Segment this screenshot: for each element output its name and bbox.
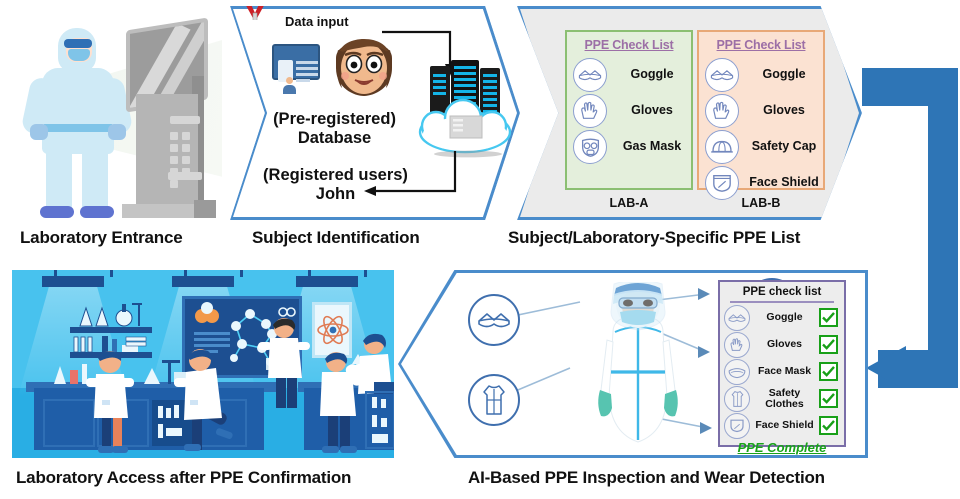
checklist-row: Goggle — [724, 305, 844, 331]
ppe-complete-status: PPE Complete — [720, 440, 844, 455]
caption-laboratory-entrance: Laboratory Entrance — [20, 228, 182, 248]
bench-side-shelf — [364, 390, 394, 450]
lab-a-name: LAB-A — [565, 196, 693, 210]
scientist-1 — [84, 348, 136, 453]
ppe-item-row: Goggle — [705, 58, 823, 92]
ppe-list-card-lab-b: PPE Check List Goggle — [697, 30, 825, 190]
ppe-person-figure — [583, 282, 693, 447]
face-mask-icon — [724, 359, 750, 385]
laboratory-entrance-illustration — [4, 6, 222, 220]
ppe-item-row: Gas Mask — [573, 130, 691, 164]
scientist-3 — [258, 316, 310, 408]
ai-ppe-detection-panel: PPE check list Goggle — [398, 270, 868, 458]
checkbox-checked[interactable] — [819, 335, 838, 354]
checklist-title: PPE check list — [720, 286, 844, 298]
goggle-icon — [573, 58, 607, 92]
checklist-row: Gloves — [724, 332, 844, 358]
safety-clothes-icon — [468, 374, 520, 426]
worker-goggle — [64, 39, 92, 48]
checkbox-checked[interactable] — [819, 416, 838, 435]
safety-cap-icon — [705, 130, 739, 164]
ppe-checklist-result-panel: PPE check list Goggle — [718, 280, 846, 447]
data-input-label: Data input — [285, 14, 349, 29]
goggle-icon — [724, 305, 750, 331]
goggle-icon — [468, 294, 520, 346]
goggle-icon — [705, 58, 739, 92]
gloves-icon — [724, 332, 750, 358]
ppe-item-row: Goggle — [573, 58, 691, 92]
lab-b-name: LAB-B — [697, 196, 825, 210]
gloves-icon — [573, 94, 607, 128]
face-shield-icon — [705, 166, 739, 200]
kiosk-keypad — [168, 130, 202, 166]
ppe-check-list-title-a: PPE Check List — [567, 38, 691, 52]
caption-ai-detection: AI-Based PPE Inspection and Wear Detecti… — [468, 468, 825, 488]
safety-clothes-icon — [724, 386, 750, 412]
checkbox-checked[interactable] — [819, 308, 838, 327]
caption-subject-identification: Subject Identification — [252, 228, 420, 248]
id-badge-icon — [272, 34, 320, 80]
gloves-icon — [705, 94, 739, 128]
entrance-kiosk — [114, 24, 218, 220]
glassware-shelf-top — [72, 302, 152, 328]
face-shield-icon — [724, 413, 750, 439]
ppe-item-row: Face Shield — [705, 166, 823, 200]
gas-mask-icon — [573, 130, 607, 164]
caption-ppe-list: Subject/Laboratory-Specific PPE List — [508, 228, 800, 248]
subject-identification-panel: Data input — [230, 6, 520, 220]
checkbox-checked[interactable] — [819, 362, 838, 381]
flow-connector-arrow — [862, 68, 958, 388]
checklist-row: Face Mask — [724, 359, 844, 385]
cloud-database-icon — [418, 58, 513, 158]
caption-laboratory-access: Laboratory Access after PPE Confirmation — [16, 468, 351, 488]
lanyard-icon — [242, 0, 268, 20]
checklist-row: Face Shield — [724, 413, 844, 439]
worker-mask — [68, 49, 90, 61]
figure-canvas: Laboratory Entrance Data input — [0, 0, 960, 499]
ppe-item-row: Safety Cap — [705, 130, 823, 164]
ppe-check-list-title-b: PPE Check List — [699, 38, 823, 52]
scientist-2 — [172, 348, 234, 453]
ppe-list-panel: PPE Check List Goggle — [517, 6, 862, 220]
registered-users-label: (Registered users) John — [238, 166, 433, 204]
ppe-item-row: Gloves — [705, 94, 823, 128]
laboratory-access-illustration — [12, 270, 394, 458]
checklist-row: Safety Clothes — [724, 386, 844, 412]
database-label: (Pre-registered) Database — [242, 110, 427, 148]
atom-icon — [316, 308, 350, 352]
ppe-item-row: Gloves — [573, 94, 691, 128]
checkbox-checked[interactable] — [819, 389, 838, 408]
ppe-list-card-lab-a: PPE Check List Goggle — [565, 30, 693, 190]
